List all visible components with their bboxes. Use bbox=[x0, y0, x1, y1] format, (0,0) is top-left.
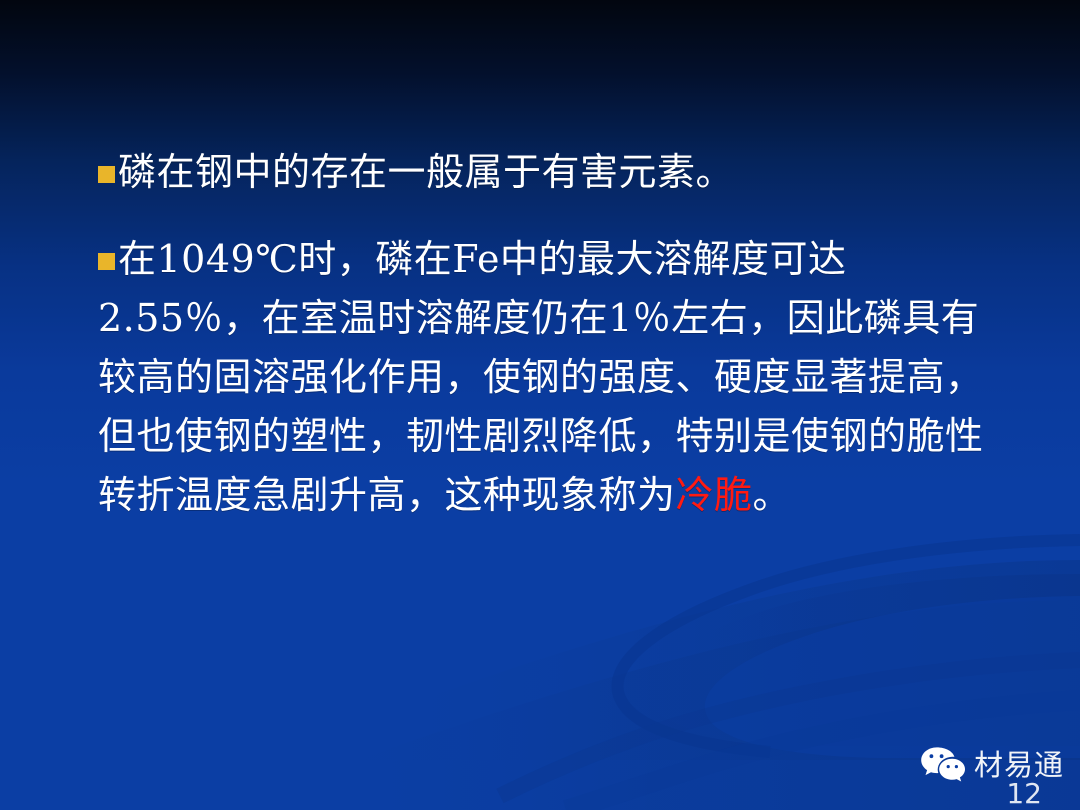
page-number: 12 bbox=[1006, 780, 1042, 808]
square-bullet-icon bbox=[98, 166, 115, 183]
bullet-2-text-tail: 。 bbox=[753, 473, 792, 517]
wechat-icon bbox=[920, 746, 966, 784]
bullet-2-text-highlight: 冷脆 bbox=[676, 473, 753, 517]
watermark-label: 材易通 bbox=[974, 751, 1064, 780]
watermark: 材易通 bbox=[920, 746, 1064, 784]
bullet-item-2: 在1049℃时，磷在Fe中的最大溶解度可达2.55％，在室温时溶解度仍在1％左右… bbox=[98, 230, 1008, 525]
slide-content: 磷在钢中的存在一般属于有害元素。 在1049℃时，磷在Fe中的最大溶解度可达2.… bbox=[0, 0, 1080, 810]
presentation-slide: 磷在钢中的存在一般属于有害元素。 在1049℃时，磷在Fe中的最大溶解度可达2.… bbox=[0, 0, 1080, 810]
bullet-1-text: 磷在钢中的存在一般属于有害元素。 bbox=[118, 150, 734, 194]
bullet-item-1: 磷在钢中的存在一般属于有害元素。 bbox=[98, 143, 998, 202]
square-bullet-icon bbox=[98, 253, 115, 270]
bullet-2-text-lead: 在1049℃时，磷在Fe中的最大溶解度可达2.55％，在室温时溶解度仍在1％左右… bbox=[98, 237, 984, 517]
